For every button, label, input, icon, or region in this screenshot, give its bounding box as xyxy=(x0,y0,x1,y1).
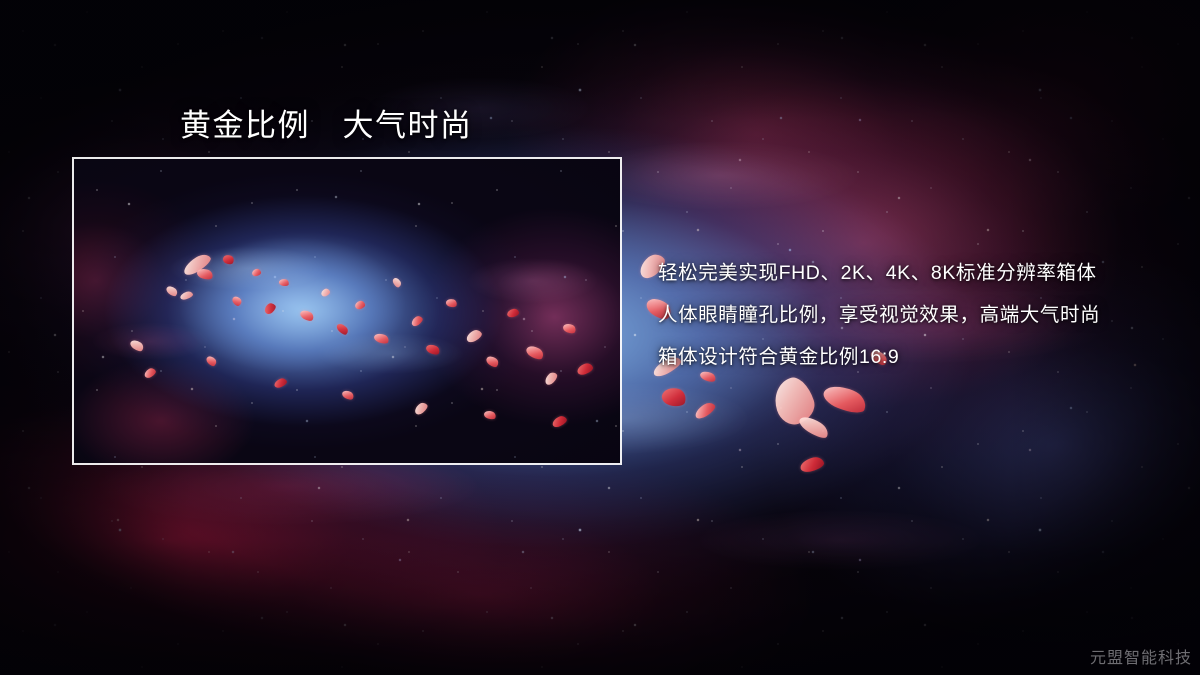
page-title: 黄金比例 大气时尚 xyxy=(180,100,473,145)
petal xyxy=(820,381,869,418)
framed-image-panel xyxy=(72,157,622,465)
body-text-block: 轻松完美实现FHD、2K、4K、8K标准分辨率箱体 人体眼睛瞳孔比例，享受视觉效… xyxy=(658,252,1178,378)
panel-nebula-wisps xyxy=(74,159,620,463)
petal xyxy=(799,455,826,474)
petal xyxy=(797,413,832,442)
petal xyxy=(693,400,717,421)
body-line-3: 箱体设计符合黄金比例16:9 xyxy=(658,336,1178,378)
petal xyxy=(660,385,688,409)
body-line-2: 人体眼睛瞳孔比例，享受视觉效果，高端大气时尚 xyxy=(658,294,1178,336)
body-line-1: 轻松完美实现FHD、2K、4K、8K标准分辨率箱体 xyxy=(658,252,1178,294)
watermark-logo-text: 元盟智能科技 xyxy=(1090,644,1192,668)
petal xyxy=(769,373,819,428)
slide-canvas: 黄金比例 大气时尚 轻松完美实现FHD、2K、4K、8K标准分辨率箱体 人体眼睛… xyxy=(0,0,1200,675)
